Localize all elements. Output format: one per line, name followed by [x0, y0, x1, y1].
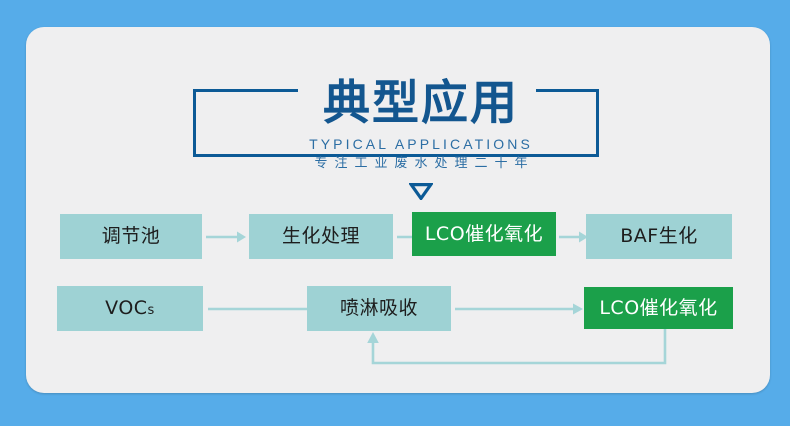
flow-node-baf-shenghua[interactable]: BAF生化 [586, 214, 732, 259]
application-slide: 典型应用 TYPICAL APPLICATIONS 专注工业废水处理二十年 调节… [0, 0, 790, 426]
flow-node-lco-catalytic-oxidation-row1[interactable]: LCO催化氧化 [412, 212, 556, 256]
flow-node-tiaojiechi[interactable]: 调节池 [60, 214, 202, 259]
subtitle-english: TYPICAL APPLICATIONS [26, 135, 790, 153]
triangle-down-icon [409, 182, 433, 200]
feedback-loop-arrow-icon [362, 327, 674, 371]
flow-node-vocs-label: VOC [105, 299, 147, 318]
flow-node-penlinxishou[interactable]: 喷淋吸收 [307, 286, 451, 331]
subtitle-chinese: 专注工业废水处理二十年 [26, 155, 790, 173]
page-title: 典型应用 [26, 76, 790, 132]
arrow-right-icon-1 [204, 227, 248, 247]
flow-node-shenghuachuli[interactable]: 生化处理 [249, 214, 393, 259]
content-panel: 典型应用 TYPICAL APPLICATIONS 专注工业废水处理二十年 调节… [26, 27, 770, 393]
arrow-right-icon-5 [453, 299, 585, 319]
flow-node-lco-catalytic-oxidation-row2[interactable]: LCO催化氧化 [584, 287, 733, 329]
flow-node-vocs[interactable]: VOCs [57, 286, 203, 331]
flow-node-vocs-subscript: s [148, 304, 155, 317]
